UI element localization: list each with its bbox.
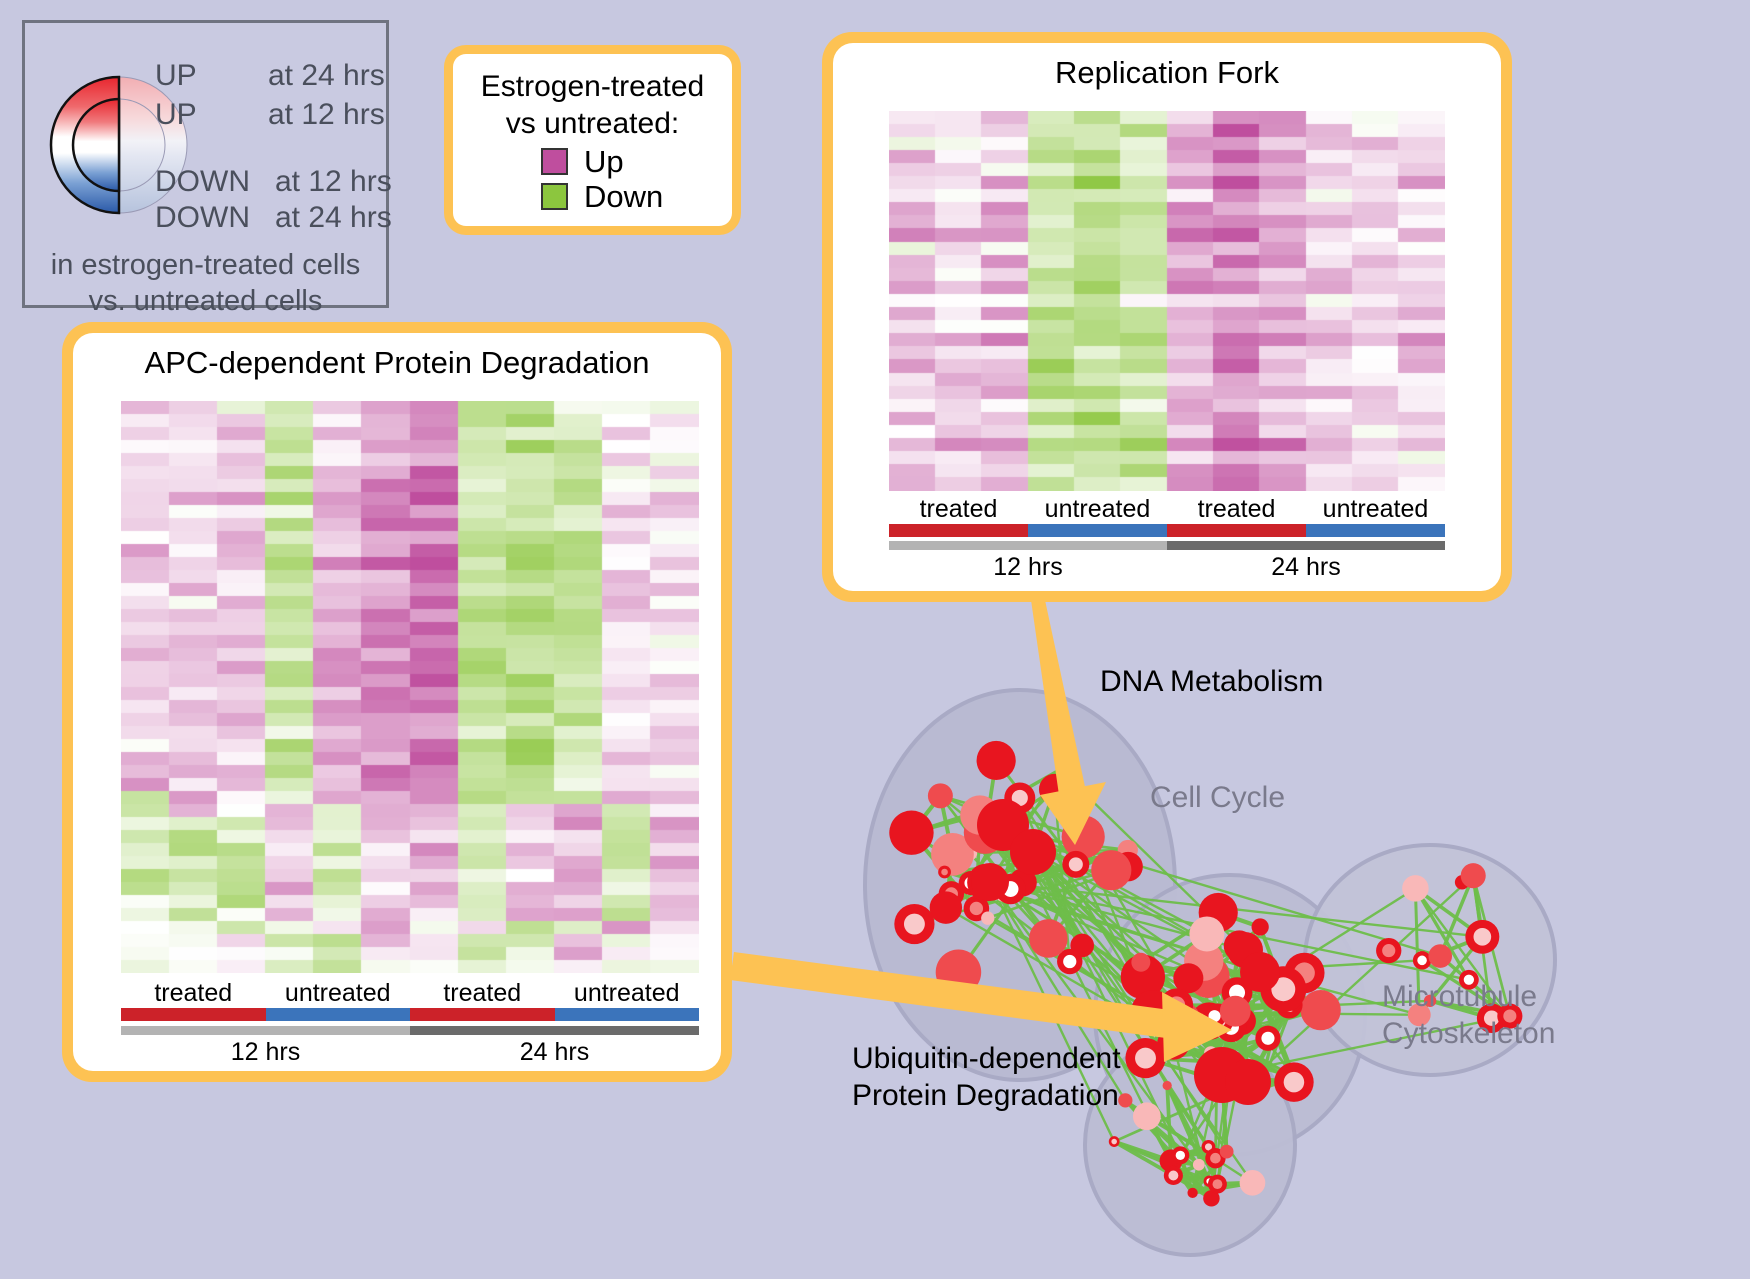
network-node (971, 863, 1009, 901)
legend-row-1-label: UP (155, 98, 197, 132)
color-bar-segment (1167, 541, 1445, 550)
network-node (1402, 875, 1428, 901)
network-node (1029, 919, 1068, 958)
network-node-core (1069, 857, 1083, 871)
legend-row-0-label: UP (155, 59, 197, 93)
legend-row-1-time: at 12 hrs (268, 98, 385, 132)
rf-group-color-bars (889, 524, 1445, 537)
panel-apc-title: APC-dependent Protein Degradation (73, 333, 721, 381)
network-node (1070, 934, 1094, 958)
legend-item-up: Up (541, 146, 722, 177)
network-node (930, 891, 962, 923)
color-bar-segment (889, 541, 1167, 550)
apc-group-labels: treated untreated treated untreated (121, 979, 699, 1008)
color-bar-segment (266, 1008, 411, 1021)
network-node-core (941, 869, 948, 876)
rf-time-labels: 12 hrs 24 hrs (889, 550, 1445, 582)
legend-caption-line2: vs. untreated cells (25, 283, 386, 319)
network-node (1187, 1188, 1197, 1198)
apc-time-labels: 12 hrs 24 hrs (121, 1035, 699, 1067)
rf-time-label-1: 24 hrs (1167, 550, 1445, 582)
color-bar-segment (555, 1008, 700, 1021)
up-down-legend-title-line2: vs untreated: (463, 105, 722, 142)
pathway-network-graph (790, 620, 1750, 1279)
apc-group-color-bars (121, 1008, 699, 1021)
network-node (1163, 1081, 1172, 1090)
network-node-core (1168, 1171, 1178, 1181)
rf-group-label-1: untreated (1028, 495, 1167, 524)
network-node-core (1261, 1032, 1274, 1045)
apc-group-label-0: treated (121, 979, 266, 1008)
network-node-core (1417, 956, 1427, 966)
apc-time-label-0: 12 hrs (121, 1035, 410, 1067)
network-node (1091, 850, 1131, 890)
network-node-core (1382, 944, 1395, 957)
network-node-core (1176, 1151, 1185, 1160)
network-node (1039, 774, 1070, 805)
rf-time-color-bars (889, 541, 1445, 550)
cluster-label-microtubule-cytoskeleton: Microtubule Cytoskeleton (1382, 978, 1555, 1052)
legend-caption-line1: in estrogen-treated cells (25, 247, 386, 283)
network-node (1240, 1170, 1266, 1196)
network-node (1189, 916, 1224, 951)
network-node-core (1210, 1153, 1221, 1164)
network-node (1240, 952, 1280, 992)
network-node (1131, 953, 1150, 972)
up-down-legend-title: Estrogen-treated vs untreated: (463, 68, 722, 142)
color-bar-segment (410, 1008, 555, 1021)
legend-row-2-label: DOWN (155, 165, 250, 199)
network-node-core (1063, 955, 1076, 968)
rf-group-label-3: untreated (1306, 495, 1445, 524)
network-node-core (1135, 1048, 1156, 1069)
color-bar-segment (121, 1026, 410, 1035)
legend-item-down: Down (541, 181, 722, 212)
up-down-legend-title-line1: Estrogen-treated (463, 68, 722, 105)
network-node-core (1473, 928, 1491, 946)
rf-time-label-0: 12 hrs (889, 550, 1167, 582)
network-node-core (904, 914, 925, 935)
panel-replication-fork: Replication Fork treated untreated treat… (822, 32, 1512, 602)
network-node-core (1111, 1139, 1117, 1145)
color-bar-segment (1167, 524, 1306, 537)
legend-item-up-label: Up (584, 146, 624, 177)
network-node-core (1284, 1072, 1305, 1093)
up-down-legend-card: Estrogen-treated vs untreated: Up Down (444, 45, 741, 235)
network-node (1428, 944, 1452, 968)
cluster-label-dna-metabolism: DNA Metabolism (1100, 663, 1323, 700)
network-node (936, 949, 981, 994)
color-bar-segment (410, 1026, 699, 1035)
circle-legend-box: UP at 24 hrs UP at 12 hrs DOWN at 12 hrs… (22, 20, 389, 308)
network-node (1133, 1102, 1161, 1130)
network-node (1056, 765, 1065, 774)
rf-group-label-2: treated (1167, 495, 1306, 524)
network-node (1062, 815, 1105, 858)
network-node (1010, 829, 1056, 875)
apc-group-label-1: untreated (266, 979, 411, 1008)
rf-group-label-0: treated (889, 495, 1028, 524)
network-node-core (970, 902, 983, 915)
color-bar-segment (1306, 524, 1445, 537)
legend-row-0-time: at 24 hrs (268, 59, 385, 93)
apc-time-color-bars (121, 1026, 699, 1035)
up-color-swatch (541, 148, 568, 175)
heatmap-apc-degradation (121, 401, 699, 973)
legend-row-3-label: DOWN (155, 201, 250, 235)
network-node (1131, 990, 1175, 1034)
color-bar-segment (1028, 524, 1167, 537)
panel-apc-degradation: APC-dependent Protein Degradation treate… (62, 322, 732, 1082)
network-node (981, 912, 994, 925)
legend-row-2-time: at 12 hrs (275, 165, 392, 199)
color-bar-segment (889, 524, 1028, 537)
apc-group-label-2: treated (410, 979, 555, 1008)
network-node (889, 811, 933, 855)
network-node (1220, 996, 1251, 1027)
network-node (1225, 1059, 1271, 1105)
network-node (1252, 918, 1269, 935)
down-color-swatch (541, 183, 568, 210)
network-node (1301, 990, 1341, 1030)
network-node (1193, 1159, 1205, 1171)
panel-replication-fork-title: Replication Fork (833, 43, 1501, 91)
legend-item-down-label: Down (584, 181, 663, 212)
color-bar-segment (121, 1008, 266, 1021)
network-node (1461, 863, 1486, 888)
legend-caption: in estrogen-treated cells vs. untreated … (25, 247, 386, 319)
network-node-core (1209, 1010, 1221, 1022)
network-node (928, 783, 953, 808)
apc-time-label-1: 24 hrs (410, 1035, 699, 1067)
network-node (977, 741, 1016, 780)
apc-group-label-3: untreated (555, 979, 700, 1008)
heatmap-replication-fork (889, 111, 1445, 491)
network-node-core (1213, 1179, 1223, 1189)
figure-canvas: UP at 24 hrs UP at 12 hrs DOWN at 12 hrs… (0, 0, 1750, 1279)
rf-group-labels: treated untreated treated untreated (889, 495, 1445, 524)
legend-row-3-time: at 24 hrs (275, 201, 392, 235)
cluster-label-cell-cycle: Cell Cycle (1150, 779, 1285, 816)
network-node (1220, 1145, 1234, 1159)
cluster-label-ubiquitin-degradation: Ubiquitin-dependent Protein Degradation (852, 1040, 1121, 1114)
